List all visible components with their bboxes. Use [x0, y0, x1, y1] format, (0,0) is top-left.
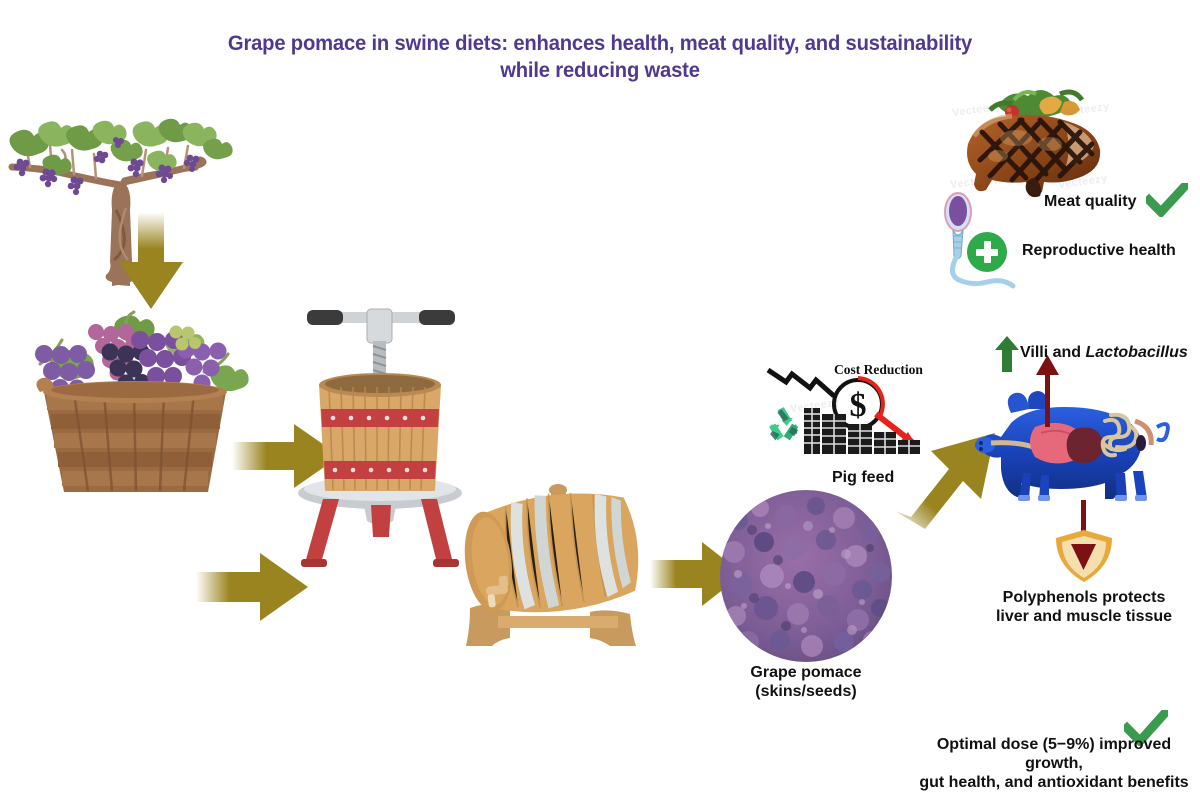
polyphenols-arrow-shield — [1046, 500, 1122, 586]
pig-feed-label: Pig feed — [832, 468, 894, 487]
plus-circle-icon — [967, 232, 1007, 272]
pomace-label-line-2: (skins/seeds) — [755, 683, 856, 700]
wine-press-illustration — [285, 305, 475, 570]
optimal-dose-line-1: Optimal dose (5−9%) improved growth, — [937, 736, 1171, 772]
polyphenols-label: Polyphenols protects liver and muscle ti… — [968, 588, 1200, 626]
villi-red-up-arrow — [1035, 355, 1061, 427]
grilled-steak-photo — [938, 82, 1110, 208]
cost-reduction-label: Cost Reduction — [834, 360, 923, 379]
svg-text:$: $ — [850, 387, 867, 424]
lactobacillus-italic: Lactobacillus — [1086, 344, 1188, 361]
meat-quality-label: Meat quality — [1044, 192, 1136, 211]
graphical-abstract: Grape pomace in swine diets: enhances he… — [0, 0, 1200, 800]
title-line-2: while reducing waste — [36, 57, 1164, 84]
title-line-1: Grape pomace in swine diets: enhances he… — [228, 31, 972, 55]
grape-basket-illustration — [18, 292, 253, 507]
check-icon — [1146, 183, 1188, 217]
arrow-press-to-barrel — [196, 548, 311, 626]
pomace-label-line-1: Grape pomace — [750, 664, 861, 681]
arrow-up-icon — [995, 336, 1019, 372]
page-title: Grape pomace in swine diets: enhances he… — [36, 30, 1164, 84]
polyphenols-line-1: Polyphenols protects — [1003, 589, 1166, 606]
polyphenols-line-2: liver and muscle tissue — [996, 608, 1172, 625]
villi-lactobacillus-label: Villi and Lactobacillus — [1020, 343, 1188, 362]
optimal-dose-line-2: gut health, and antioxidant benefits — [919, 774, 1188, 791]
wine-barrel-illustration — [452, 466, 662, 651]
villi-prefix: Villi and — [1020, 344, 1086, 361]
pomace-label: Grape pomace (skins/seeds) — [742, 663, 870, 701]
optimal-dose-label: Optimal dose (5−9%) improved growth, gut… — [908, 735, 1200, 792]
pig-anatomy-illustration — [965, 385, 1190, 505]
grape-pomace-photo — [720, 490, 892, 662]
reproductive-health-label: Reproductive health — [1022, 241, 1176, 260]
